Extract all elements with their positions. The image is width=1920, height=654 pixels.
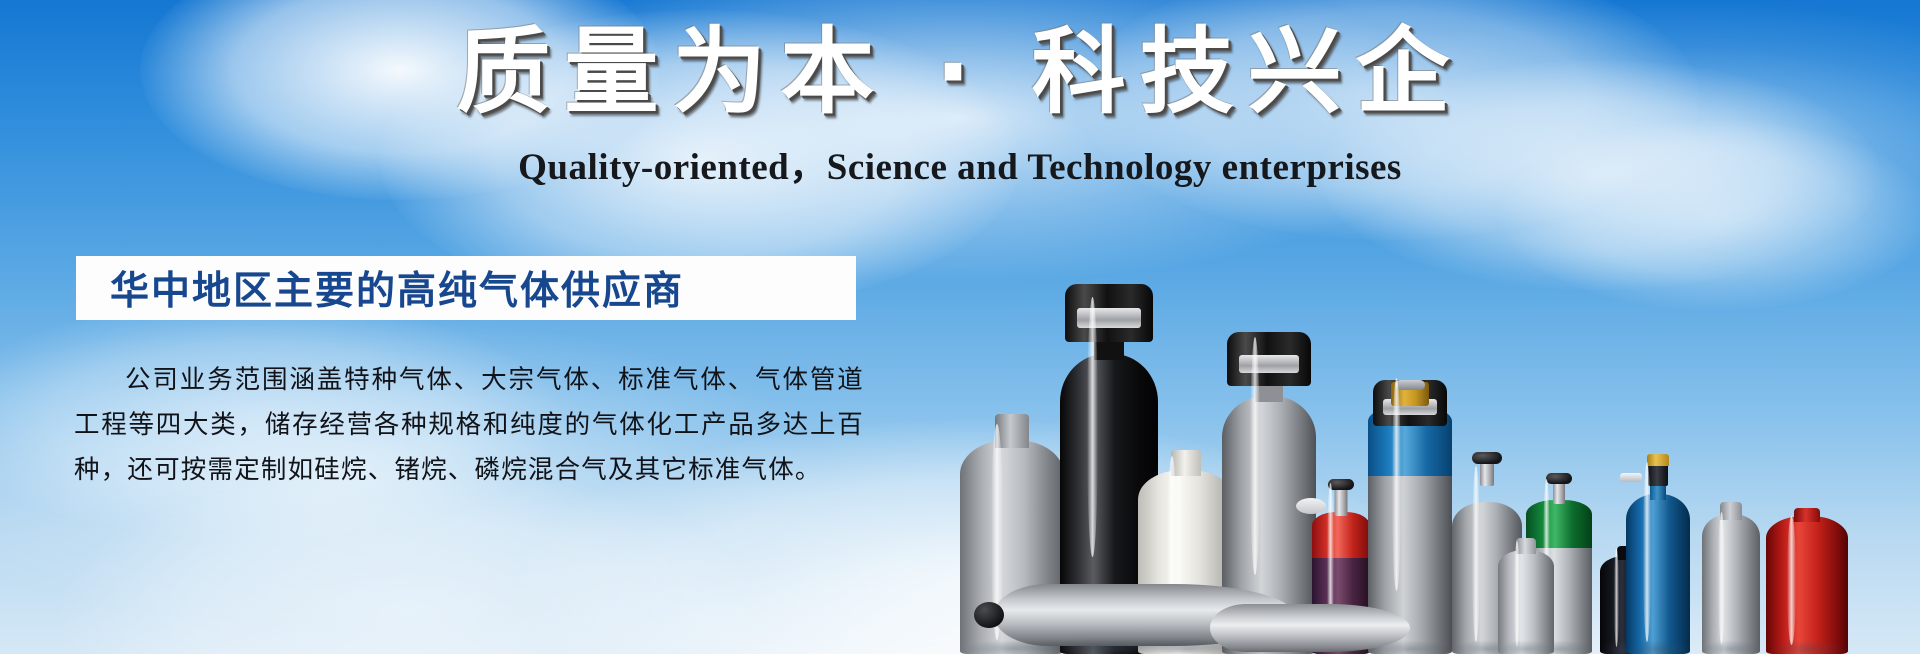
sub-headline-box: 华中地区主要的高纯气体供应商 <box>76 256 856 320</box>
body-paragraph: 公司业务范围涵盖特种气体、大宗气体、标准气体、气体管道工程等四大类，储存经营各种… <box>74 358 864 493</box>
cylinder-blue-medium <box>1626 454 1690 654</box>
cylinder-lying-valve <box>974 602 1004 628</box>
banner-body-copy: 公司业务范围涵盖特种气体、大宗气体、标准气体、气体管道工程等四大类，储存经营各种… <box>74 358 864 493</box>
cylinder-red-large <box>1766 510 1848 654</box>
cylinder-aluminium-small <box>1498 536 1554 654</box>
cylinder-aluminium-tall <box>1702 506 1760 654</box>
banner-headline-english: Quality-oriented，Science and Technology … <box>0 136 1920 190</box>
cylinder-lying-secondary <box>1210 604 1410 652</box>
sub-headline-text: 华中地区主要的高纯气体供应商 <box>76 260 684 316</box>
promotional-banner: 质量为本 · 科技兴企 Quality-oriented，Science and… <box>0 0 1920 654</box>
gas-cylinder-group-photo <box>960 234 1920 654</box>
banner-headline-chinese: 质量为本 · 科技兴企 <box>0 22 1920 124</box>
cloud-decoration <box>60 470 760 654</box>
